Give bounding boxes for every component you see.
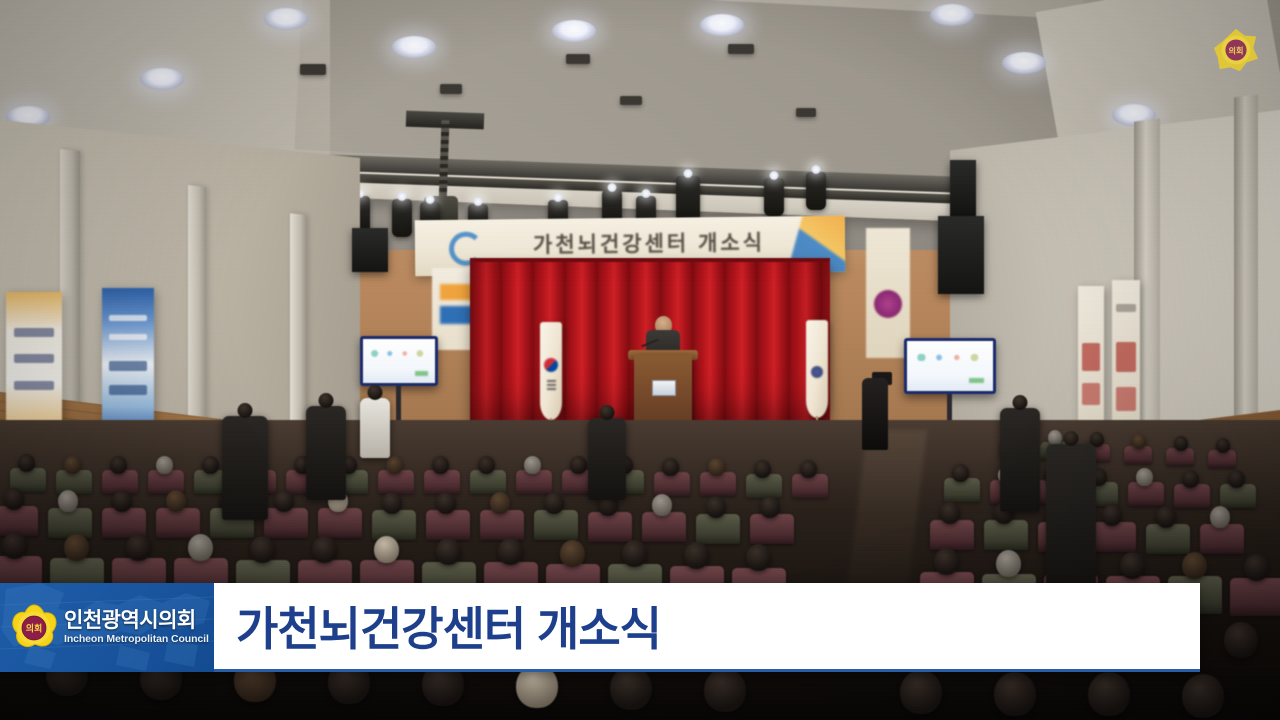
audience-head <box>274 490 294 512</box>
audience-head <box>524 456 541 474</box>
audience-head <box>1136 468 1153 486</box>
audience-head <box>156 456 173 474</box>
standing-attendee <box>306 406 346 500</box>
audience-area <box>0 420 1280 720</box>
standing-attendee-white <box>360 398 390 458</box>
attendee-head <box>1013 395 1028 410</box>
audience-head <box>478 456 495 474</box>
seat <box>372 510 416 540</box>
audience-head <box>570 456 587 474</box>
lower-third-banner: 의회 인천광역시의회 Incheon Metropolitan Council … <box>0 583 1200 672</box>
audience-head <box>1244 554 1269 581</box>
organization-names: 인천광역시의회 Incheon Metropolitan Council <box>64 610 209 645</box>
organization-name-en: Incheon Metropolitan Council <box>64 634 209 645</box>
audience-head <box>4 488 24 510</box>
ceiling-downlight <box>1002 52 1046 74</box>
audience-head <box>800 460 817 478</box>
audience-head <box>436 492 456 514</box>
standing-attendee <box>1046 444 1096 592</box>
audience-head <box>754 460 771 478</box>
wall-speaker <box>938 216 984 294</box>
audience-head <box>498 538 523 565</box>
audience-head <box>1224 622 1258 658</box>
audience-head <box>166 490 186 512</box>
audience-head <box>382 492 402 514</box>
audience-head <box>1174 436 1188 451</box>
audience-head <box>188 534 213 561</box>
seat <box>1200 524 1244 554</box>
stage-spotlight <box>676 176 700 222</box>
audience-head <box>1182 552 1207 579</box>
audience-head <box>432 456 449 474</box>
council-emblem-watermark: 의회 <box>1212 26 1260 74</box>
wall-speaker <box>950 160 976 216</box>
wall-banner-blue <box>102 288 154 440</box>
ceiling-downlight <box>700 14 744 36</box>
audience-head <box>1132 434 1146 449</box>
audience-head <box>58 490 78 512</box>
audience-head <box>652 494 672 516</box>
audience-head <box>1088 672 1130 716</box>
audience-head <box>1182 674 1224 718</box>
audience-head <box>386 456 403 474</box>
audience-head <box>1216 438 1230 453</box>
display-monitor-right <box>904 338 996 394</box>
audience-head <box>996 550 1021 577</box>
wall-banner-orange <box>6 292 62 440</box>
stage-spotlight <box>806 172 826 210</box>
audience-head <box>560 540 585 567</box>
audience-head <box>900 670 942 714</box>
ceiling-fixture <box>728 44 754 54</box>
seat <box>1230 578 1280 616</box>
audience-head <box>18 454 35 472</box>
wall-speaker <box>352 228 388 272</box>
left-wall-column <box>188 185 206 437</box>
seat <box>750 514 794 544</box>
camera-operator <box>862 378 888 450</box>
council-emblem-icon: 의회 <box>9 603 59 653</box>
seat <box>48 508 92 538</box>
stage-spotlight <box>764 178 784 216</box>
ceiling-downlight <box>552 20 596 42</box>
seat <box>480 510 524 540</box>
left-wall-column <box>60 149 80 441</box>
audience-head <box>1156 506 1176 528</box>
audience-head <box>2 532 27 559</box>
audience-head <box>312 536 337 563</box>
seat <box>696 514 740 544</box>
stage-spotlight <box>392 199 412 237</box>
ceiling-downlight <box>140 68 184 90</box>
svg-text:의회: 의회 <box>1228 45 1243 55</box>
standing-attendee <box>588 418 626 500</box>
audience-head <box>112 490 132 512</box>
standing-attendee <box>1000 408 1040 512</box>
panel-emblem <box>874 290 902 318</box>
organization-name-ko: 인천광역시의회 <box>64 610 209 631</box>
audience-head <box>1048 430 1062 445</box>
audience-head <box>610 666 652 710</box>
organization-flag <box>806 320 828 418</box>
svg-text:의회: 의회 <box>26 622 43 634</box>
audience-head <box>126 534 151 561</box>
audience-head <box>1228 470 1245 488</box>
ceiling-downlight <box>392 36 436 58</box>
podium-nameplate <box>652 380 676 396</box>
audience-head <box>684 542 709 569</box>
seat <box>156 508 200 538</box>
trigram-marks <box>547 380 556 390</box>
video-frame: 가천뇌건강센터 개소식 <box>0 0 1280 720</box>
audience-head <box>64 534 89 561</box>
attendee-head <box>238 403 253 418</box>
audience-head <box>662 458 679 476</box>
ceiling-fixture <box>300 64 326 75</box>
ceiling-downlight <box>264 8 308 30</box>
seat <box>642 512 686 542</box>
audience-head <box>706 496 726 518</box>
seat <box>930 520 974 550</box>
seat <box>534 510 578 540</box>
ceiling-fixture <box>566 54 590 64</box>
attendee-head <box>1064 431 1079 446</box>
attendee-head <box>319 393 334 408</box>
korean-national-flag <box>540 322 562 420</box>
audience-head <box>704 668 746 712</box>
audience-head <box>940 502 960 524</box>
stage-banner-text: 가천뇌건강센터 개소식 <box>533 227 765 259</box>
audience-head <box>1182 470 1199 488</box>
ceiling-fixture <box>440 84 462 94</box>
ceiling-fixture <box>620 96 642 105</box>
seat <box>264 508 308 538</box>
taeguk-symbol <box>544 358 558 372</box>
program-title: 가천뇌건강센터 개소식 <box>236 593 661 659</box>
audience-head <box>374 536 399 563</box>
seat <box>1146 524 1190 554</box>
audience-head <box>760 496 780 518</box>
standing-attendee <box>222 416 268 520</box>
flag-emblem <box>811 366 823 378</box>
audience-head <box>490 492 510 514</box>
audience-head <box>622 540 647 567</box>
audience-head <box>110 456 127 474</box>
organization-logo-block: 의회 인천광역시의회 Incheon Metropolitan Council <box>0 583 214 672</box>
audience-head <box>64 456 81 474</box>
ceiling-downlight <box>930 4 974 26</box>
audience-head <box>544 492 564 514</box>
monitor-stand <box>396 386 401 420</box>
display-monitor-left <box>360 336 438 386</box>
audience-head <box>202 456 219 474</box>
right-wall-column <box>1234 95 1258 458</box>
audience-head <box>250 536 275 563</box>
audience-head <box>708 458 725 476</box>
left-wall-column <box>290 213 306 430</box>
seat <box>588 512 632 542</box>
audience-head <box>746 544 771 571</box>
audience-head <box>436 538 461 565</box>
seat <box>984 520 1028 550</box>
attendee-head <box>600 405 615 420</box>
audience-head <box>952 464 969 482</box>
audience-head <box>1210 506 1230 528</box>
audience-head <box>994 672 1036 716</box>
monitor-screen <box>363 339 435 383</box>
ceiling-fixture <box>796 108 816 117</box>
stage-side-panel-right <box>866 228 910 358</box>
audience-head <box>934 548 959 575</box>
seat <box>1092 522 1136 552</box>
audience-head <box>1120 552 1145 579</box>
seat <box>318 508 362 538</box>
seat <box>0 506 38 536</box>
lower-third-title-block: 가천뇌건강센터 개소식 <box>214 583 1200 672</box>
audience-head <box>1102 504 1122 526</box>
seat <box>426 510 470 540</box>
attendee-head <box>368 385 383 400</box>
monitor-screen <box>907 341 993 391</box>
